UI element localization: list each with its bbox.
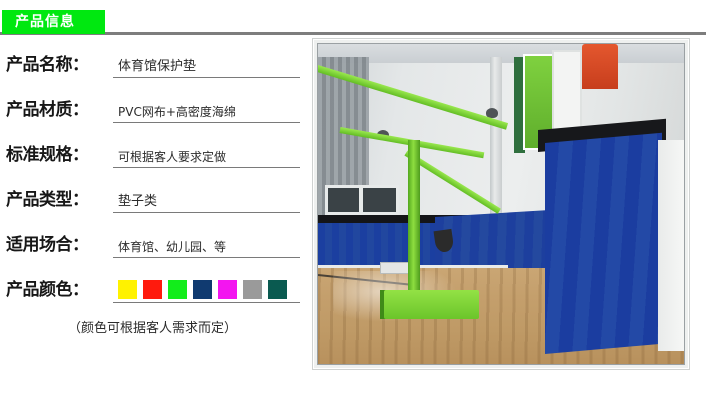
spec-value-underline bbox=[113, 275, 300, 303]
spec-value: 体育馆保护垫 bbox=[118, 59, 196, 75]
color-availability-note: （颜色可根据客人需求而定） bbox=[0, 320, 305, 338]
spec-row-material: 产品材质： PVC网布+高密度海绵 bbox=[0, 95, 305, 140]
color-swatch-gray bbox=[243, 280, 262, 299]
spec-value: 可根据客人要求定做 bbox=[118, 149, 226, 165]
spec-label: 产品材质： bbox=[6, 99, 89, 121]
section-title: 产品信息 bbox=[15, 15, 75, 29]
spec-row-product-type: 产品类型： 垫子类 bbox=[0, 185, 305, 230]
product-photo-frame bbox=[312, 38, 690, 370]
section-header-tab: 产品信息 bbox=[2, 10, 105, 34]
spec-value-underline: 可根据客人要求定做 bbox=[113, 140, 300, 168]
spec-value: 体育馆、幼儿园、等 bbox=[118, 239, 226, 255]
header-divider-rule bbox=[0, 32, 706, 35]
photo-blue-wall-pad-near bbox=[545, 133, 662, 354]
spec-value-underline: 体育馆保护垫 bbox=[113, 50, 300, 78]
photo-hoop-base bbox=[384, 290, 479, 319]
product-photo bbox=[317, 43, 685, 365]
photo-wall-white-right bbox=[658, 140, 684, 351]
photo-hoop-post bbox=[408, 140, 420, 300]
spec-row-standard-size: 标准规格： 可根据客人要求定做 bbox=[0, 140, 305, 185]
color-swatch-magenta bbox=[218, 280, 237, 299]
spec-label: 适用场合： bbox=[6, 234, 89, 256]
spec-label: 产品名称： bbox=[6, 54, 89, 76]
color-swatch-navy bbox=[193, 280, 212, 299]
spec-value: 垫子类 bbox=[118, 194, 157, 210]
spec-value-underline: 体育馆、幼儿园、等 bbox=[113, 230, 300, 258]
color-swatch-teal bbox=[268, 280, 287, 299]
spec-list: 产品名称： 体育馆保护垫 产品材质： PVC网布+高密度海绵 标准规格： 可根据… bbox=[0, 50, 305, 320]
color-swatch-yellow bbox=[118, 280, 137, 299]
spec-label: 产品类型： bbox=[6, 189, 89, 211]
spec-value-underline: 垫子类 bbox=[113, 185, 300, 213]
color-swatch-strip bbox=[118, 280, 287, 299]
color-swatch-red bbox=[143, 280, 162, 299]
spec-row-application: 适用场合： 体育馆、幼儿园、等 bbox=[0, 230, 305, 275]
spec-value-underline: PVC网布+高密度海绵 bbox=[113, 95, 300, 123]
section-header: 产品信息 bbox=[0, 10, 706, 34]
color-swatch-green bbox=[168, 280, 187, 299]
spec-label: 产品颜色： bbox=[6, 279, 89, 301]
photo-orange-panel bbox=[582, 44, 619, 89]
product-info-page: 产品信息 产品名称： 体育馆保护垫 产品材质： PVC网布+高密度海绵 标准规格… bbox=[0, 0, 706, 400]
spec-row-product-color: 产品颜色： bbox=[0, 275, 305, 320]
spec-label: 标准规格： bbox=[6, 144, 89, 166]
spec-value: PVC网布+高密度海绵 bbox=[118, 104, 236, 120]
spec-row-product-name: 产品名称： 体育馆保护垫 bbox=[0, 50, 305, 95]
